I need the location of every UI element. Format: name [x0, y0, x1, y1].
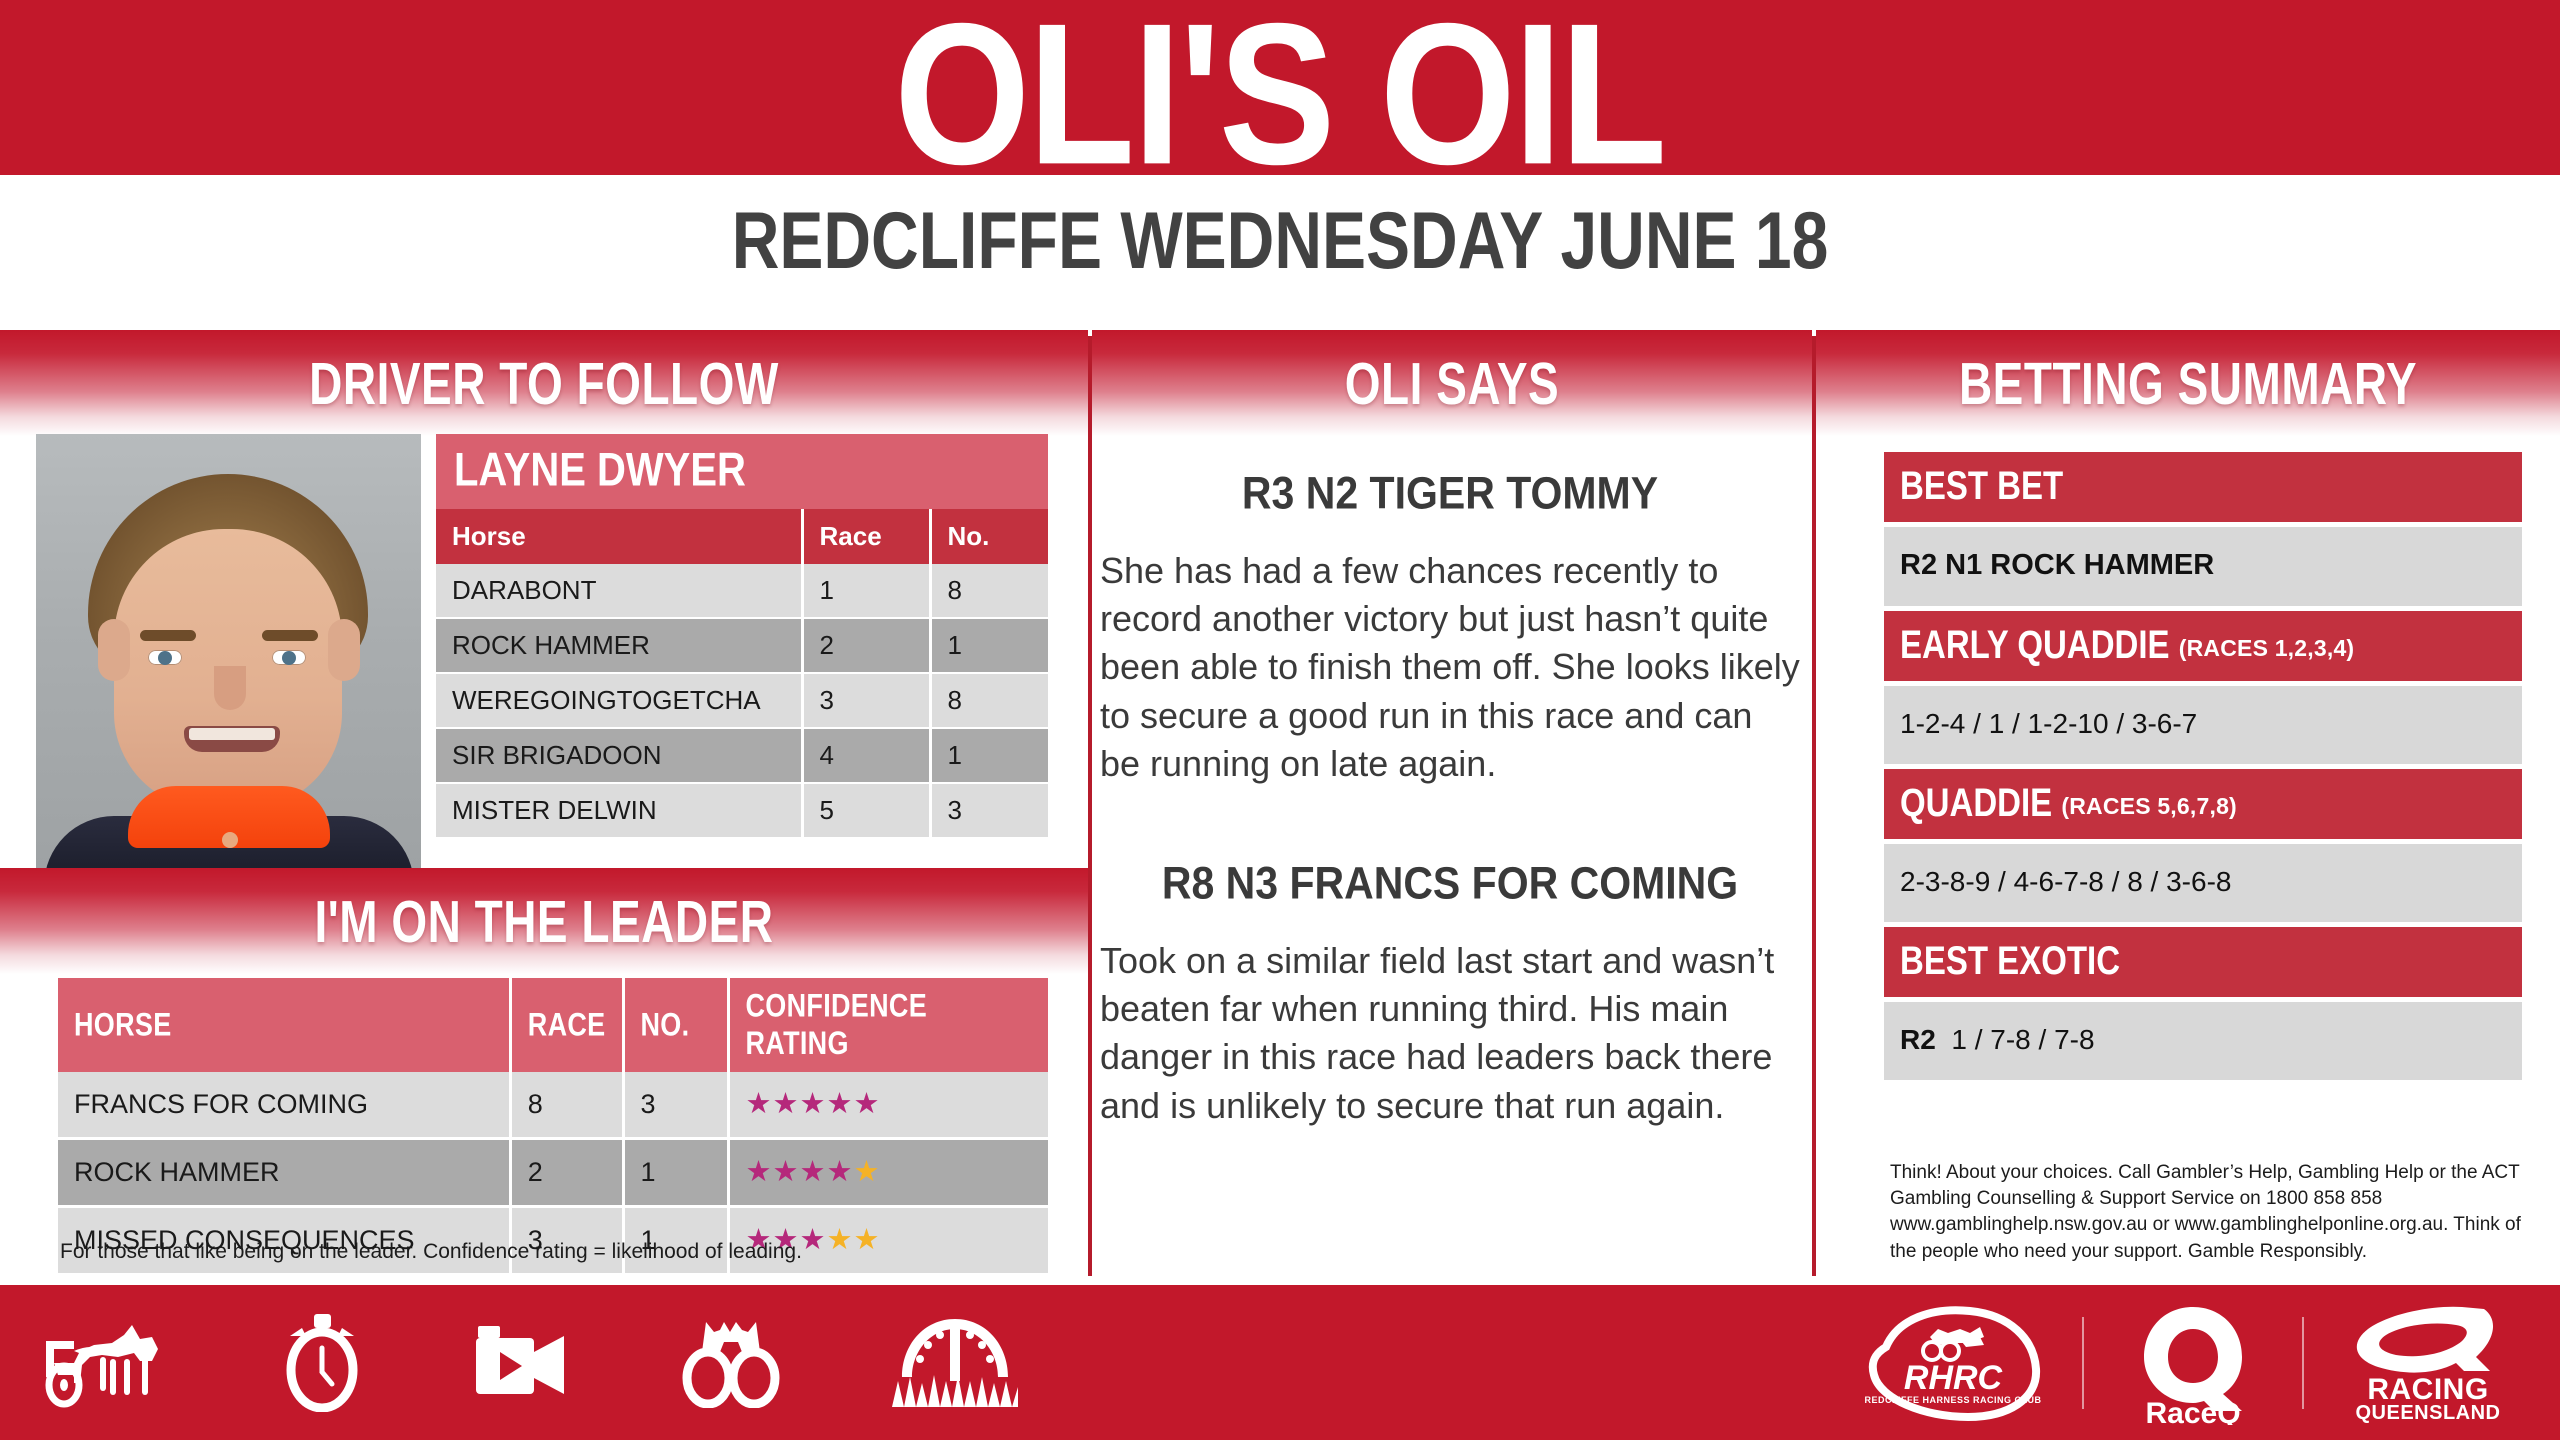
best-bet-header: BEST BET	[1884, 452, 2522, 522]
photo-pupil-left	[158, 651, 172, 665]
section-header-oli-says: OLI SAYS	[1092, 330, 1812, 436]
section-title-text: BETTING SUMMARY	[1959, 348, 2417, 418]
table-row: ROCK HAMMER 2 1 ★★★★★	[58, 1139, 1048, 1207]
oli-says-block-2: R8 N3 FRANCS FOR COMING Took on a simila…	[1100, 860, 1800, 1130]
rhrc-logo: RHRC REDCLIFFE HARNESS RACING CLUB	[1858, 1303, 2048, 1423]
footer-bar: RHRC REDCLIFFE HARNESS RACING CLUB RaceQ…	[0, 1285, 2560, 1440]
section-title-text: DRIVER TO FOLLOW	[309, 348, 779, 418]
column-header-horse: Horse	[436, 509, 802, 564]
svg-text:QUEENSLAND: QUEENSLAND	[2355, 1402, 2500, 1424]
oli-says-heading: R3 N2 TIGER TOMMY	[1100, 470, 1800, 517]
cell-race: 2	[510, 1139, 623, 1207]
column-header-race: RACE	[510, 978, 623, 1072]
poster-root: OLI'S OIL REDCLIFFE WEDNESDAY JUNE 18 DR…	[0, 0, 2560, 1440]
footer-icon-row	[40, 1299, 1240, 1427]
early-quaddie-label: EARLY QUADDIE	[1900, 622, 2170, 668]
masthead-banner: OLI'S OIL	[0, 0, 2560, 175]
harness-horse-icon	[40, 1317, 172, 1409]
best-bet-label: BEST BET	[1900, 463, 2063, 509]
raceq-logo: RaceQ	[2118, 1301, 2268, 1425]
cell-race: 1	[802, 564, 930, 618]
video-camera-icon	[472, 1320, 570, 1406]
table-header-row: Horse Race No.	[436, 509, 1048, 564]
early-quaddie-value: 1-2-4 / 1 / 1-2-10 / 3-6-7	[1884, 686, 2522, 764]
section-header-driver-to-follow: DRIVER TO FOLLOW	[0, 330, 1088, 436]
section-header-im-on-the-leader: I'M ON THE LEADER	[0, 868, 1088, 974]
subtitle-bar: REDCLIFFE WEDNESDAY JUNE 18	[0, 175, 2560, 305]
driver-name-banner: LAYNE DWYER	[436, 434, 1048, 509]
driver-name: LAYNE DWYER	[454, 444, 746, 497]
binoculars-icon	[680, 1318, 780, 1408]
early-quaddie-races: (RACES 1,2,3,4)	[2179, 635, 2355, 661]
star-rating: ★★★★★	[746, 1088, 881, 1120]
table-row: MISTER DELWIN 5 3	[436, 783, 1048, 838]
oli-says-body: Took on a similar field last start and w…	[1100, 937, 1800, 1130]
best-exotic-combo: 1 / 7-8 / 7-8	[1951, 1024, 2094, 1055]
cell-no: 3	[623, 1072, 728, 1139]
quaddie-races: (RACES 5,6,7,8)	[2061, 793, 2237, 819]
cell-confidence: ★★★★★	[728, 1139, 1048, 1207]
cell-horse: ROCK HAMMER	[58, 1139, 510, 1207]
best-exotic-label: BEST EXOTIC	[1900, 938, 2120, 984]
table-row: SIR BRIGADOON 4 1	[436, 728, 1048, 783]
star-rating: ★★★★★	[746, 1156, 881, 1188]
best-exotic-header: BEST EXOTIC	[1884, 927, 2522, 997]
quaddie-label: QUADDIE	[1900, 780, 2052, 826]
cell-no: 1	[930, 618, 1048, 673]
column-header-confidence-rating: CONFIDENCE RATING	[728, 978, 1048, 1072]
cell-no: 1	[930, 728, 1048, 783]
photo-brow-left	[140, 630, 196, 641]
cell-horse: WEREGOINGTOGETCHA	[436, 673, 802, 728]
table-header-row: HORSE RACE NO. CONFIDENCE RATING	[58, 978, 1048, 1072]
quaddie-value: 2-3-8-9 / 4-6-7-8 / 8 / 3-6-8	[1884, 844, 2522, 922]
racing-queensland-logo: RACING QUEENSLAND	[2338, 1301, 2518, 1425]
driver-to-follow-table: Horse Race No. DARABONT 1 8 ROCK HAMMER …	[436, 509, 1048, 839]
photo-collar-button	[222, 832, 238, 848]
table-row: FRANCS FOR COMING 8 3 ★★★★★	[58, 1072, 1048, 1139]
cell-race: 2	[802, 618, 930, 673]
photo-brow-right	[262, 630, 318, 641]
meeting-subtitle: REDCLIFFE WEDNESDAY JUNE 18	[732, 194, 1829, 287]
section-header-betting-summary: BETTING SUMMARY	[1816, 330, 2560, 436]
logo-divider-2	[2302, 1317, 2304, 1409]
grandstand-icon	[890, 1315, 1020, 1411]
driver-to-follow-panel: LAYNE DWYER Horse Race No. DARABONT 1 8 …	[436, 434, 1048, 839]
best-bet-value: R2 N1 ROCK HAMMER	[1884, 527, 2522, 606]
oli-says-block-1: R3 N2 TIGER TOMMY She has had a few chan…	[1100, 470, 1800, 788]
oli-says-body: She has had a few chances recently to re…	[1100, 547, 1800, 788]
column-divider-right	[1812, 336, 1816, 1276]
cell-horse: MISTER DELWIN	[436, 783, 802, 838]
cell-race: 5	[802, 783, 930, 838]
section-title-text: I'M ON THE LEADER	[315, 886, 774, 956]
cell-race: 4	[802, 728, 930, 783]
cell-no: 3	[930, 783, 1048, 838]
cell-race: 3	[802, 673, 930, 728]
table-row: WEREGOINGTOGETCHA 3 8	[436, 673, 1048, 728]
section-title-text: OLI SAYS	[1345, 348, 1559, 418]
oli-says-heading: R8 N3 FRANCS FOR COMING	[1100, 860, 1800, 907]
cell-horse: ROCK HAMMER	[436, 618, 802, 673]
photo-ear-right	[328, 619, 360, 681]
leader-footnote: For those that like being on the leader.…	[60, 1240, 1060, 1264]
im-on-the-leader-panel: HORSE RACE NO. CONFIDENCE RATING FRANCS …	[58, 978, 1048, 1276]
table-row: DARABONT 1 8	[436, 564, 1048, 618]
responsible-gambling-notice: Think! About your choices. Call Gambler’…	[1890, 1160, 2540, 1265]
stopwatch-icon	[282, 1314, 362, 1412]
cell-no: 8	[930, 564, 1048, 618]
svg-text:REDCLIFFE HARNESS RACING CLUB: REDCLIFFE HARNESS RACING CLUB	[1864, 1395, 2041, 1405]
photo-pupil-right	[282, 651, 296, 665]
photo-teeth	[189, 728, 275, 740]
quaddie-header: QUADDIE (RACES 5,6,7,8)	[1884, 769, 2522, 839]
logo-divider-1	[2082, 1317, 2084, 1409]
driver-photo	[36, 434, 421, 874]
early-quaddie-header: EARLY QUADDIE (RACES 1,2,3,4)	[1884, 611, 2522, 681]
footer-logo-row: RHRC REDCLIFFE HARNESS RACING CLUB RaceQ…	[1858, 1301, 2518, 1425]
column-header-horse: HORSE	[58, 978, 510, 1072]
photo-ear-left	[98, 619, 130, 681]
cell-race: 8	[510, 1072, 623, 1139]
table-row: ROCK HAMMER 2 1	[436, 618, 1048, 673]
betting-summary-panel: BEST BET R2 N1 ROCK HAMMER EARLY QUADDIE…	[1884, 452, 2522, 1085]
svg-text:RHRC: RHRC	[1904, 1359, 2003, 1397]
column-header-no: NO.	[623, 978, 728, 1072]
cell-horse: FRANCS FOR COMING	[58, 1072, 510, 1139]
cell-no: 8	[930, 673, 1048, 728]
best-exotic-race: R2	[1900, 1024, 1936, 1055]
best-exotic-value: R2 1 / 7-8 / 7-8	[1884, 1002, 2522, 1080]
svg-text:RaceQ: RaceQ	[2145, 1397, 2240, 1425]
column-divider-left	[1088, 336, 1092, 1276]
page-title: OLI'S OIL	[895, 2, 1666, 187]
photo-nose	[214, 666, 246, 710]
cell-horse: DARABONT	[436, 564, 802, 618]
cell-horse: SIR BRIGADOON	[436, 728, 802, 783]
cell-no: 1	[623, 1139, 728, 1207]
column-header-no: No.	[930, 509, 1048, 564]
im-on-the-leader-table: HORSE RACE NO. CONFIDENCE RATING FRANCS …	[58, 978, 1048, 1276]
cell-confidence: ★★★★★	[728, 1072, 1048, 1139]
column-header-race: Race	[802, 509, 930, 564]
